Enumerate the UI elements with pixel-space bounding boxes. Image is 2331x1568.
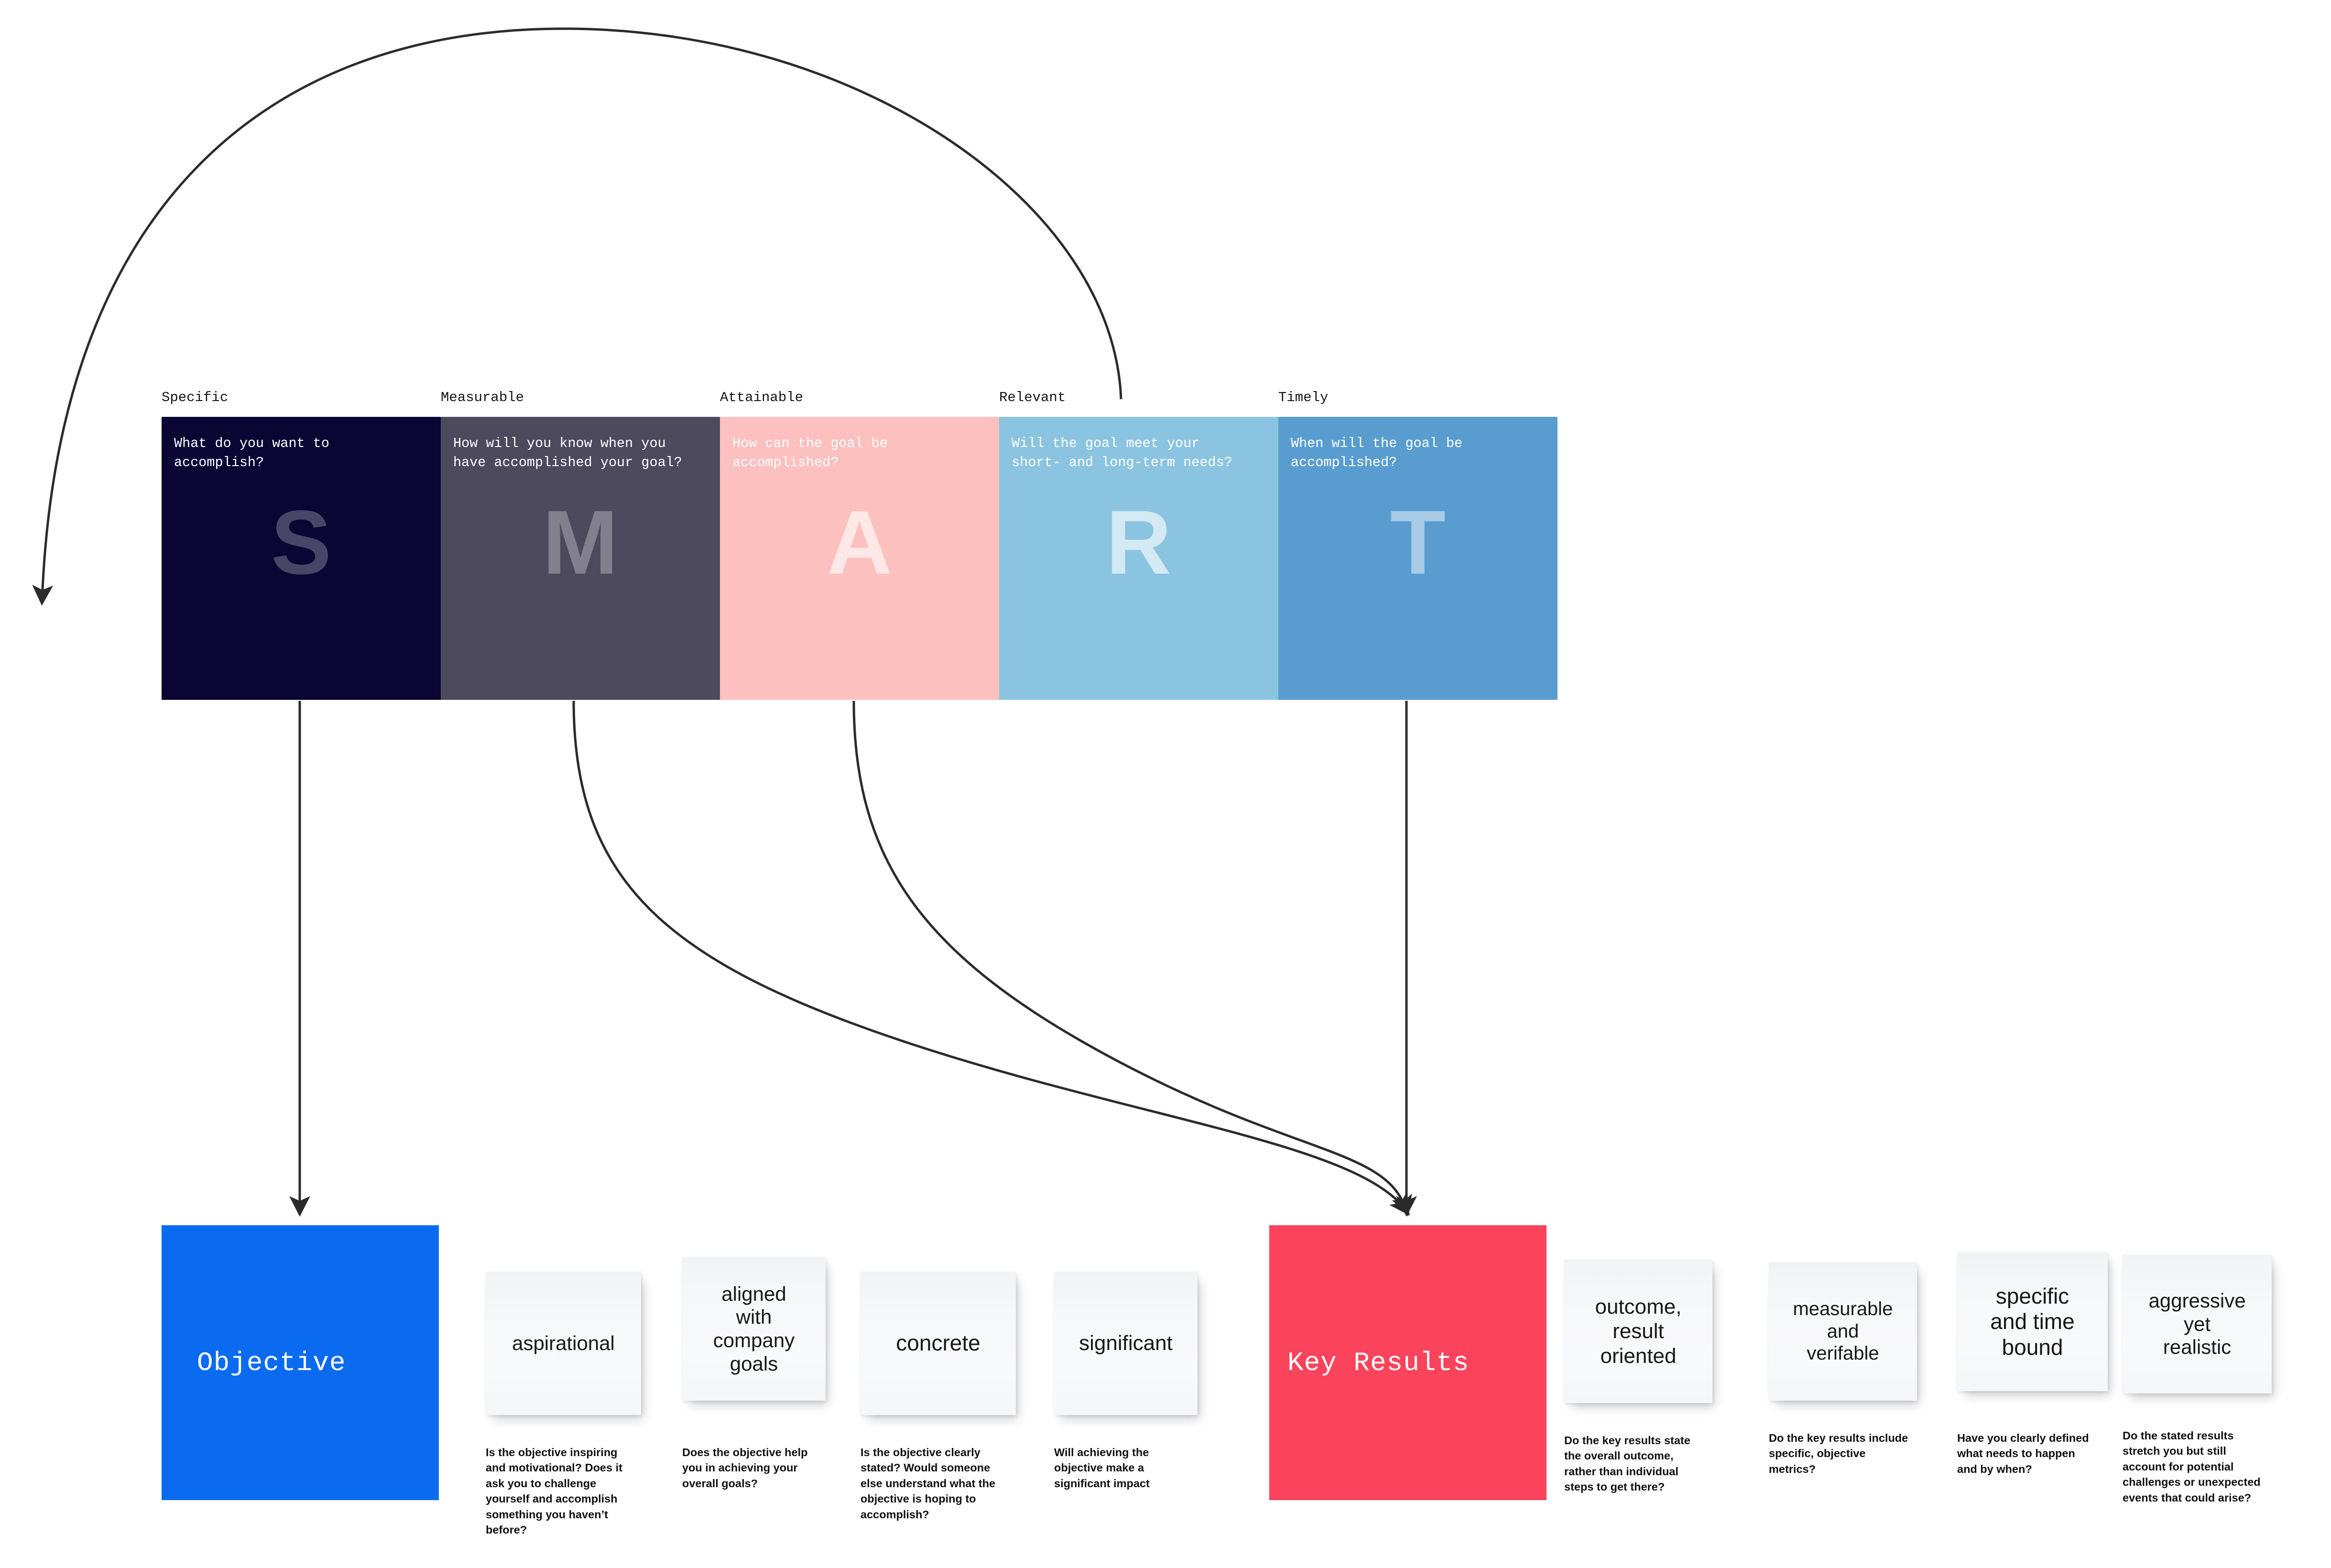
sticky-title: outcome, result oriented bbox=[1590, 1295, 1687, 1368]
smart-column-measurable[interactable]: How will you know when you have accompli… bbox=[441, 417, 720, 700]
note-group-aligned-with-company-goals: aligned with company goals Does the obje… bbox=[682, 1257, 845, 1491]
note-group-aggressive-yet-realistic: aggressive yet realistic Do the stated r… bbox=[2123, 1255, 2285, 1505]
note-caption: Will achieving the objective make a sign… bbox=[1054, 1445, 1212, 1491]
smart-letter-r: R bbox=[999, 497, 1278, 588]
smart-column-attainable[interactable]: How can the goal be accomplished? A bbox=[720, 417, 999, 700]
smart-question-specific: What do you want to accomplish? bbox=[174, 434, 423, 473]
key-results-label: Key Results bbox=[1287, 1348, 1470, 1378]
smart-letter-t: T bbox=[1278, 497, 1558, 588]
objective-block[interactable]: Objective bbox=[162, 1225, 439, 1500]
smart-question-relevant: Will the goal meet your short- and long-… bbox=[1012, 434, 1260, 473]
note-caption: Do the stated results stretch you but st… bbox=[2123, 1428, 2296, 1505]
smart-letter-a: A bbox=[720, 497, 999, 588]
note-caption: Do the key results include specific, obj… bbox=[1769, 1430, 1943, 1477]
note-caption: Is the objective inspiring and motivatio… bbox=[486, 1445, 658, 1538]
sticky-note[interactable]: aligned with company goals bbox=[682, 1257, 826, 1401]
sticky-note[interactable]: aggressive yet realistic bbox=[2123, 1255, 2272, 1394]
note-caption: Is the objective clearly stated? Would s… bbox=[861, 1445, 1038, 1522]
note-caption: Do the key results state the overall out… bbox=[1564, 1433, 1732, 1495]
smart-captions: Specific Measurable Attainable Relevant … bbox=[162, 390, 1558, 412]
arrow-measurable-to-keyresults bbox=[574, 701, 1406, 1211]
smart-band: What do you want to accomplish? S How wi… bbox=[162, 417, 1558, 700]
smart-column-relevant[interactable]: Will the goal meet your short- and long-… bbox=[999, 417, 1278, 700]
note-caption: Have you clearly defined what needs to h… bbox=[1957, 1430, 2125, 1477]
note-group-measurable-and-verifable: measurable and verifable Do the key resu… bbox=[1769, 1262, 1931, 1477]
arrow-attainable-to-keyresults bbox=[854, 701, 1406, 1211]
note-group-significant: significant Will achieving the objective… bbox=[1054, 1272, 1217, 1491]
smart-caption-measurable: Measurable bbox=[441, 390, 524, 405]
note-group-concrete: concrete Is the objective clearly stated… bbox=[861, 1272, 1023, 1522]
sticky-note[interactable]: measurable and verifable bbox=[1769, 1262, 1917, 1401]
sticky-title: specific and time bound bbox=[1985, 1284, 2079, 1360]
note-group-aspirational: aspirational Is the objective inspiring … bbox=[486, 1272, 648, 1538]
smart-question-measurable: How will you know when you have accompli… bbox=[453, 434, 702, 473]
smart-caption-specific: Specific bbox=[162, 390, 228, 405]
sticky-title: measurable and verifable bbox=[1788, 1298, 1897, 1364]
smart-question-timely: When will the goal be accomplished? bbox=[1291, 434, 1539, 473]
note-group-specific-and-time-bound: specific and time bound Have you clearly… bbox=[1957, 1252, 2120, 1477]
smart-letter-m: M bbox=[441, 497, 720, 588]
smart-column-specific[interactable]: What do you want to accomplish? S bbox=[162, 417, 441, 700]
note-group-outcome-result-oriented: outcome, result oriented Do the key resu… bbox=[1564, 1260, 1727, 1495]
objective-label: Objective bbox=[197, 1348, 346, 1378]
sticky-title: aggressive yet realistic bbox=[2144, 1289, 2250, 1359]
sticky-title: aspirational bbox=[507, 1332, 620, 1355]
sticky-title: concrete bbox=[891, 1330, 985, 1356]
sticky-title: significant bbox=[1074, 1331, 1177, 1355]
sticky-title: aligned with company goals bbox=[708, 1283, 799, 1376]
smart-caption-relevant: Relevant bbox=[999, 390, 1066, 405]
sticky-note[interactable]: aspirational bbox=[486, 1272, 641, 1415]
smart-question-attainable: How can the goal be accomplished? bbox=[732, 434, 981, 473]
smart-caption-timely: Timely bbox=[1278, 390, 1328, 405]
smart-caption-attainable: Attainable bbox=[720, 390, 803, 405]
sticky-note[interactable]: significant bbox=[1054, 1272, 1198, 1415]
smart-letter-s: S bbox=[162, 497, 441, 588]
sticky-note[interactable]: specific and time bound bbox=[1957, 1252, 2108, 1391]
diagram-canvas: Specific Measurable Attainable Relevant … bbox=[0, 0, 2331, 1568]
sticky-note[interactable]: outcome, result oriented bbox=[1564, 1260, 1712, 1403]
smart-column-timely[interactable]: When will the goal be accomplished? T bbox=[1278, 417, 1558, 700]
key-results-block[interactable]: Key Results bbox=[1269, 1225, 1547, 1500]
note-caption: Does the objective help you in achieving… bbox=[682, 1445, 852, 1491]
sticky-note[interactable]: concrete bbox=[861, 1272, 1016, 1415]
